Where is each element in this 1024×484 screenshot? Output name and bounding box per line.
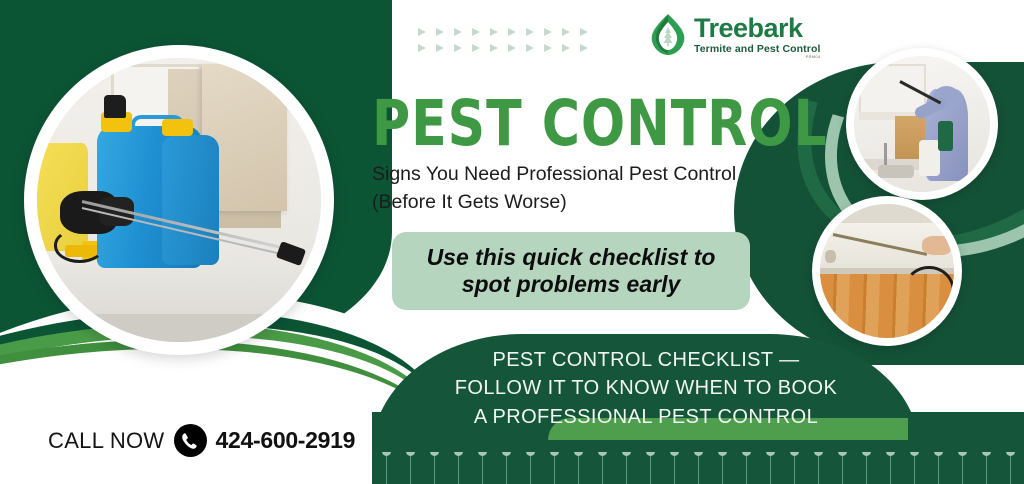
photo-sink <box>878 165 913 179</box>
dot-pin-icon <box>550 452 559 456</box>
banner-line-1: PEST CONTROL CHECKLIST — <box>372 346 920 374</box>
right-top-photo-ring <box>846 48 998 200</box>
technician-spraying-kitchen-photo <box>854 56 990 192</box>
dot-pin <box>386 452 387 484</box>
dot-pin-icon <box>958 452 967 456</box>
arrow-row <box>418 44 588 52</box>
dot-pin-icon <box>790 452 799 456</box>
call-now-label: CALL NOW <box>48 428 165 454</box>
banner-message: PEST CONTROL CHECKLIST — FOLLOW IT TO KN… <box>372 346 920 431</box>
photo-floor-shadow <box>37 314 321 342</box>
decorative-arrow-grid <box>418 28 588 60</box>
dot-pin <box>482 452 483 484</box>
subtitle-line-2: (Before It Gets Worse) <box>372 188 792 216</box>
triangle-right-icon <box>544 28 552 36</box>
dot-pin-icon <box>814 452 823 456</box>
dot-pin-icon <box>718 452 727 456</box>
triangle-right-icon <box>562 44 570 52</box>
checklist-callout-text: Use this quick checklist to spot problem… <box>427 244 716 298</box>
spraying-baseboard-photo <box>820 204 954 338</box>
photo-sprayer-tank-back <box>162 135 219 266</box>
logo-brand-name: Treebark <box>694 15 820 42</box>
page-title: PEST CONTROL <box>372 92 828 155</box>
dot-pin <box>842 452 843 484</box>
photo-detail <box>825 250 836 263</box>
triangle-right-icon <box>418 44 426 52</box>
dot-pin <box>986 452 987 484</box>
triangle-right-icon <box>580 28 588 36</box>
leaf-droplet-tree-icon <box>648 12 688 62</box>
dot-pin <box>458 452 459 484</box>
dot-pin-icon <box>430 452 439 456</box>
dot-pin-icon <box>838 452 847 456</box>
dot-pin-icon <box>646 452 655 456</box>
subtitle-line-1: Signs You Need Professional Pest Control <box>372 160 792 188</box>
checklist-callout-box: Use this quick checklist to spot problem… <box>392 232 750 310</box>
dot-pin-icon <box>502 452 511 456</box>
left-photo-ring <box>24 45 334 355</box>
dot-pin <box>626 452 627 484</box>
dot-pin-icon <box>742 452 751 456</box>
dot-pin-icon <box>526 452 535 456</box>
logo-tagline: Termite and Pest Control <box>694 44 820 55</box>
dot-pin <box>914 452 915 484</box>
triangle-right-icon <box>490 28 498 36</box>
triangle-right-icon <box>526 28 534 36</box>
dot-pin <box>506 452 507 484</box>
dot-pin <box>674 452 675 484</box>
dot-pin <box>578 452 579 484</box>
dot-pin-icon <box>910 452 919 456</box>
backpack-sprayer-photo <box>37 58 321 342</box>
dot-pin <box>770 452 771 484</box>
triangle-right-icon <box>454 28 462 36</box>
banner-line-2: FOLLOW IT TO KNOW WHEN TO BOOK <box>372 374 920 402</box>
phone-number[interactable]: 424-600-2919 <box>216 427 356 454</box>
logo-text-block: Treebark Termite and Pest Control PRM04 <box>694 15 820 60</box>
dot-pin-icon <box>982 452 991 456</box>
dot-pin-icon <box>406 452 415 456</box>
dot-pin-icon <box>934 452 943 456</box>
dot-pin <box>722 452 723 484</box>
call-now-block[interactable]: CALL NOW 424-600-2919 <box>48 424 355 457</box>
dot-pin <box>938 452 939 484</box>
dot-pin-icon <box>574 452 583 456</box>
dot-pin-icon <box>622 452 631 456</box>
dot-pin <box>746 452 747 484</box>
dot-pin-icon <box>694 452 703 456</box>
dot-pin <box>554 452 555 484</box>
triangle-right-icon <box>490 44 498 52</box>
photo-hand <box>922 236 951 255</box>
triangle-right-icon <box>526 44 534 52</box>
dot-pin-icon <box>478 452 487 456</box>
photo-sprayer-pump <box>104 95 127 118</box>
dot-pin-icon <box>454 452 463 456</box>
triangle-right-icon <box>508 44 516 52</box>
dot-pin <box>818 452 819 484</box>
arrow-row <box>418 28 588 36</box>
right-bottom-photo-ring <box>812 196 962 346</box>
triangle-right-icon <box>454 44 462 52</box>
triangle-right-icon <box>472 28 480 36</box>
triangle-right-icon <box>544 44 552 52</box>
dot-pin-icon <box>766 452 775 456</box>
cta-line-2: spot problems early <box>462 271 681 297</box>
pest-control-promo-banner: Treebark Termite and Pest Control PRM04 … <box>0 0 1024 484</box>
dot-pin-icon <box>862 452 871 456</box>
dot-pin-icon <box>382 452 391 456</box>
dot-pin <box>602 452 603 484</box>
photo-faucet <box>884 143 887 165</box>
dot-pin <box>530 452 531 484</box>
triangle-right-icon <box>436 44 444 52</box>
triangle-right-icon <box>508 28 516 36</box>
dot-pin <box>698 452 699 484</box>
dot-pin <box>1010 452 1011 484</box>
page-subtitle: Signs You Need Professional Pest Control… <box>372 160 792 217</box>
dot-pin <box>962 452 963 484</box>
phone-handset-icon[interactable] <box>174 424 207 457</box>
dot-pin <box>866 452 867 484</box>
triangle-right-icon <box>562 28 570 36</box>
photo-hose <box>903 266 954 318</box>
triangle-right-icon <box>436 28 444 36</box>
triangle-right-icon <box>472 44 480 52</box>
dot-pin <box>794 452 795 484</box>
dot-pin <box>434 452 435 484</box>
triangle-right-icon <box>418 28 426 36</box>
photo-sprayer-cap-back <box>162 119 193 136</box>
dot-pin-icon <box>670 452 679 456</box>
footer-dot-strip <box>372 452 1024 484</box>
triangle-right-icon <box>580 44 588 52</box>
banner-line-3: A PROFESSIONAL PEST CONTROL <box>372 403 920 431</box>
dot-pin <box>650 452 651 484</box>
cta-line-1: Use this quick checklist to <box>427 244 716 270</box>
dot-pin-icon <box>1006 452 1015 456</box>
brand-logo[interactable]: Treebark Termite and Pest Control PRM04 <box>648 12 820 62</box>
photo-backpack <box>938 121 953 151</box>
dot-pin <box>890 452 891 484</box>
dot-pin <box>410 452 411 484</box>
photo-spray-tank <box>919 140 939 175</box>
dot-pin-icon <box>886 452 895 456</box>
logo-fine-print: PRM04 <box>694 55 820 59</box>
dot-pin-icon <box>598 452 607 456</box>
